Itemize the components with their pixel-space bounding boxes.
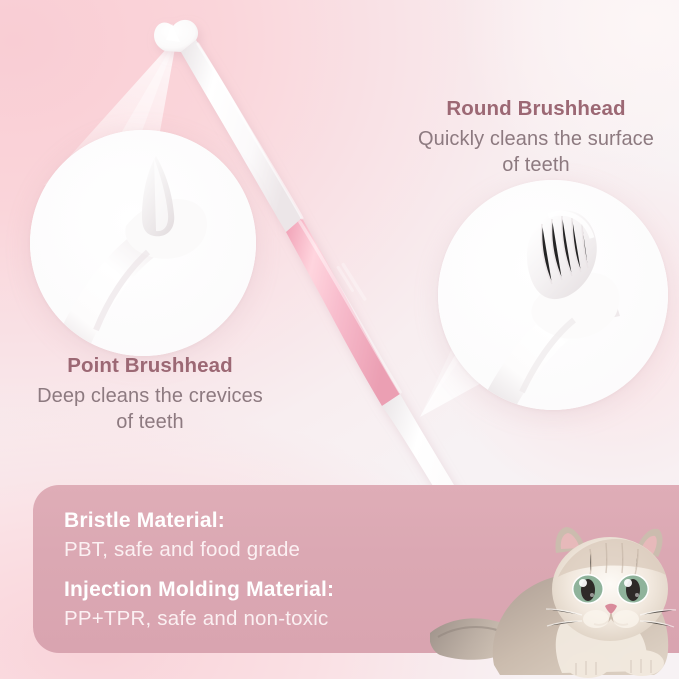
callout-round-brushhead-body-line1: Quickly cleans the surface xyxy=(396,126,676,152)
cat-photo xyxy=(430,505,679,679)
magnifier-circle-point-brushhead xyxy=(30,130,256,356)
callout-round-brushhead: Round Brushhead Quickly cleans the surfa… xyxy=(396,96,676,178)
callout-round-brushhead-body: Quickly cleans the surface of teeth xyxy=(396,126,676,178)
callout-point-brushhead-body-line1: Deep cleans the crevices xyxy=(0,383,300,409)
callout-point-brushhead-heading: Point Brushhead xyxy=(0,353,300,378)
callout-round-brushhead-body-line2: of teeth xyxy=(396,152,676,178)
product-infographic: Round Brushhead Quickly cleans the surfa… xyxy=(0,0,679,679)
callout-round-brushhead-heading: Round Brushhead xyxy=(396,96,676,121)
callout-point-brushhead: Point Brushhead Deep cleans the crevices… xyxy=(0,353,300,435)
callout-point-brushhead-body-line2: of teeth xyxy=(0,409,300,435)
callout-point-brushhead-body: Deep cleans the crevices of teeth xyxy=(0,383,300,435)
magnifier-circle-round-brushhead xyxy=(438,180,668,410)
